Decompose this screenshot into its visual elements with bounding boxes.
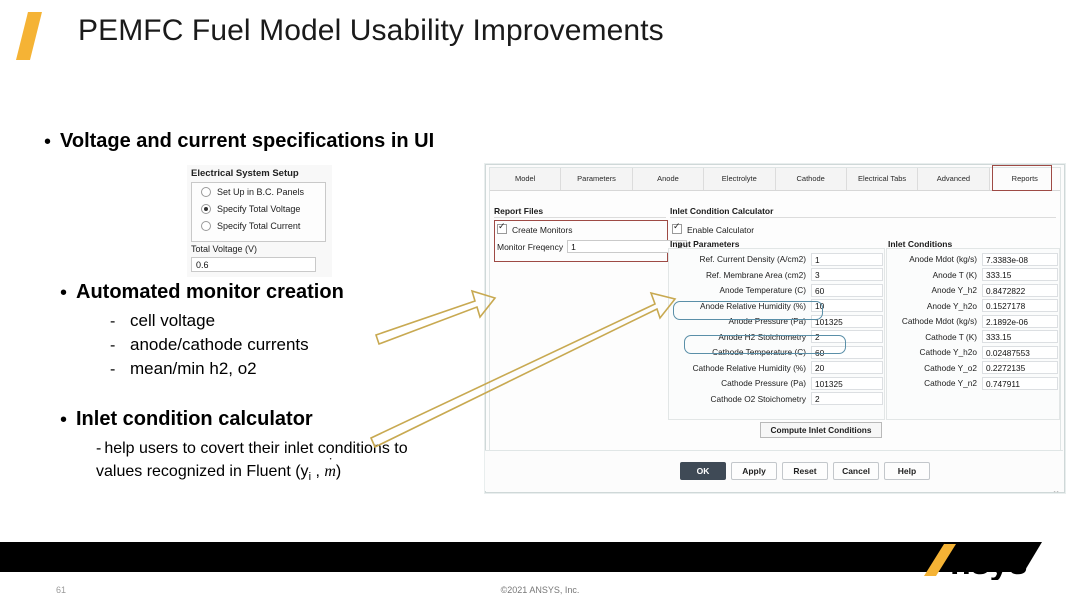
condition-label: Cathode Y_h2o [889, 347, 982, 357]
radio-option-bc-panels[interactable]: Set Up in B.C. Panels [192, 183, 325, 200]
checkmark-icon [672, 224, 682, 234]
dialog-button-bar: OKApplyResetCancelHelp [485, 450, 1063, 491]
page-title: PEMFC Fuel Model Usability Improvements [78, 14, 664, 48]
parameter-row: Cathode Y_h2o0.02487553 [889, 345, 1058, 359]
total-voltage-input[interactable]: 0.6 [191, 257, 316, 272]
apply-button[interactable]: Apply [731, 462, 777, 480]
parameter-row: Anode Temperature (C)60 [671, 283, 883, 297]
parameter-row: Ref. Current Density (A/cm2)1 [671, 252, 883, 266]
parameter-input[interactable]: 60 [811, 284, 883, 297]
enable-calculator-checkbox[interactable]: Enable Calculator [672, 224, 754, 235]
bullet-label: Voltage and current specifications in UI [60, 130, 434, 153]
parameter-label: Ref. Membrane Area (cm2) [671, 270, 811, 280]
parameter-label: Ref. Current Density (A/cm2) [671, 254, 811, 264]
inlet-conditions-group: Anode Mdot (kg/s)7.3383e-08Anode T (K)33… [886, 248, 1060, 420]
input-parameters-list: Ref. Current Density (A/cm2)1Ref. Membra… [671, 252, 883, 407]
slide-header: PEMFC Fuel Model Usability Improvements [0, 0, 1080, 72]
cancel-button[interactable]: Cancel [833, 462, 879, 480]
calculator-note-line1: help users to covert their inlet conditi… [104, 440, 407, 457]
inlet-conditions-list: Anode Mdot (kg/s)7.3383e-08Anode T (K)33… [889, 252, 1058, 392]
help-button[interactable]: Help [884, 462, 930, 480]
parameter-row: Anode Y_h20.8472822 [889, 283, 1058, 297]
list-item: - mean/min h2, o2 [110, 359, 309, 379]
condition-label: Cathode T (K) [889, 332, 982, 342]
dash-marker: - [110, 337, 130, 355]
compute-inlet-conditions-button[interactable]: Compute Inlet Conditions [760, 422, 882, 438]
parameter-row: Anode T (K)333.15 [889, 268, 1058, 282]
parameter-row: Ref. Membrane Area (cm2)3 [671, 268, 883, 282]
radio-icon [201, 221, 211, 231]
tab-advanced[interactable]: Advanced [918, 168, 989, 190]
parameter-row: Cathode Relative Humidity (%)20 [671, 361, 883, 375]
reports-tab-highlight [992, 165, 1052, 191]
anode-stoichometry-callout [684, 335, 846, 354]
radio-option-total-voltage[interactable]: Specify Total Voltage [192, 200, 325, 217]
parameter-input[interactable]: 1 [811, 253, 883, 266]
condition-label: Anode T (K) [889, 270, 982, 280]
create-monitors-label: Create Monitors [512, 225, 572, 235]
arrow-monitor-icon [376, 291, 495, 344]
ok-button[interactable]: OK [680, 462, 726, 480]
calculator-note-line2-prefix: values recognized in Fluent (y [96, 463, 309, 480]
parameter-row: Cathode Pressure (Pa)101325 [671, 376, 883, 390]
bullet-inlet-calculator: • Inlet condition calculator [60, 408, 313, 431]
bullet-label: Inlet condition calculator [76, 408, 313, 431]
anode-humidity-callout [673, 301, 823, 320]
condition-value[interactable]: 0.747911 [982, 377, 1058, 390]
parameter-row: Cathode T (K)333.15 [889, 330, 1058, 344]
tab-cathode[interactable]: Cathode [776, 168, 847, 190]
condition-label: Cathode Y_o2 [889, 363, 982, 373]
brand-slash-icon [16, 12, 42, 60]
list-item-label: anode/cathode currents [130, 335, 309, 355]
parameter-row: Anode Mdot (kg/s)7.3383e-08 [889, 252, 1058, 266]
reset-button[interactable]: Reset [782, 462, 828, 480]
bullet-marker: • [60, 408, 76, 430]
divider [670, 217, 1056, 218]
parameter-input[interactable]: 2 [811, 392, 883, 405]
create-monitors-checkbox[interactable]: Create Monitors [497, 224, 572, 235]
condition-label: Cathode Mdot (kg/s) [889, 316, 982, 326]
monitor-frequency-value: 1 [571, 242, 576, 252]
report-files-heading: Report Files [494, 206, 543, 216]
input-parameters-group: Ref. Current Density (A/cm2)1Ref. Membra… [668, 248, 885, 420]
parameter-row: Cathode Y_o20.2272135 [889, 361, 1058, 375]
parameter-input[interactable]: 20 [811, 361, 883, 374]
closing-paren: ) [336, 463, 341, 480]
radio-label: Specify Total Current [217, 221, 300, 231]
parameter-label: Anode Temperature (C) [671, 285, 811, 295]
condition-value[interactable]: 2.1892e-06 [982, 315, 1058, 328]
radio-selected-icon [201, 204, 211, 214]
bullet-marker: • [44, 130, 60, 152]
electrical-panel-title: Electrical System Setup [191, 168, 299, 179]
calculator-note: -help users to covert their inlet condit… [96, 437, 476, 486]
bullet-label: Automated monitor creation [76, 281, 344, 304]
tab-anode[interactable]: Anode [633, 168, 704, 190]
parameter-row: Cathode Mdot (kg/s)2.1892e-06 [889, 314, 1058, 328]
dash-marker: - [96, 440, 101, 457]
bullet-voltage-specs: • Voltage and current specifications in … [44, 130, 434, 153]
copyright-text: ©2021 ANSYS, Inc. [0, 585, 1080, 595]
list-item-label: cell voltage [130, 311, 215, 331]
radio-label: Specify Total Voltage [217, 204, 300, 214]
bullet-automated-monitor: • Automated monitor creation [60, 281, 344, 304]
parameter-input[interactable]: 3 [811, 268, 883, 281]
monitor-frequency-label: Monitor Freqency [497, 242, 563, 252]
list-item-label: mean/min h2, o2 [130, 359, 257, 379]
bullet-marker: • [60, 281, 76, 303]
mdot-symbol: m [324, 463, 336, 480]
radio-option-total-current[interactable]: Specify Total Current [192, 217, 325, 234]
radio-icon [201, 187, 211, 197]
parameter-label: Cathode Relative Humidity (%) [671, 363, 811, 373]
dash-marker: - [110, 313, 130, 331]
radio-group: Set Up in B.C. Panels Specify Total Volt… [191, 182, 326, 242]
tab-parameters[interactable]: Parameters [561, 168, 632, 190]
monitor-sublist: - cell voltage - anode/cathode currents … [110, 311, 309, 383]
parameter-row: Cathode O2 Stoichometry2 [671, 392, 883, 406]
dash-marker: - [110, 361, 130, 379]
calculator-heading: Inlet Condition Calculator [670, 206, 773, 216]
condition-value[interactable]: 333.15 [982, 268, 1058, 281]
parameter-row: Cathode Y_n20.747911 [889, 376, 1058, 390]
list-item: - cell voltage [110, 311, 309, 331]
dialog-tabstrip: Model Parameters Anode Electrolyte Catho… [490, 168, 1060, 191]
divider [494, 217, 666, 218]
tab-electrolyte[interactable]: Electrolyte [704, 168, 775, 190]
comma-separator: , [311, 463, 324, 480]
condition-value[interactable]: 0.02487553 [982, 346, 1058, 359]
svg-text:nsys: nsys [950, 544, 1028, 580]
parameter-label: Cathode O2 Stoichometry [671, 394, 811, 404]
monitor-frequency-row: Monitor Freqency 1 [497, 240, 687, 253]
tab-electrical-tabs[interactable]: Electrical Tabs [847, 168, 918, 190]
condition-value[interactable]: 0.2272135 [982, 361, 1058, 374]
enable-calculator-label: Enable Calculator [687, 225, 754, 235]
radio-label: Set Up in B.C. Panels [217, 187, 304, 197]
total-voltage-label: Total Voltage (V) [191, 244, 257, 254]
parameter-label: Cathode Pressure (Pa) [671, 378, 811, 388]
condition-value[interactable]: 0.8472822 [982, 284, 1058, 297]
condition-label: Anode Y_h2o [889, 301, 982, 311]
dialog-buttons: OKApplyResetCancelHelp [680, 462, 930, 480]
condition-value[interactable]: 333.15 [982, 330, 1058, 343]
checkmark-icon [497, 224, 507, 234]
ansys-logo: nsys [922, 540, 1062, 580]
condition-label: Anode Y_h2 [889, 285, 982, 295]
list-item: - anode/cathode currents [110, 335, 309, 355]
condition-label: Anode Mdot (kg/s) [889, 254, 982, 264]
parameter-input[interactable]: 101325 [811, 377, 883, 390]
condition-value[interactable]: 7.3383e-08 [982, 253, 1058, 266]
footer-bar [0, 542, 1024, 572]
parameter-row: Anode Y_h2o0.1527178 [889, 299, 1058, 313]
condition-label: Cathode Y_n2 [889, 378, 982, 388]
condition-value[interactable]: 0.1527178 [982, 299, 1058, 312]
tab-model[interactable]: Model [490, 168, 561, 190]
electrical-system-setup-panel: Electrical System Setup Set Up in B.C. P… [187, 165, 332, 277]
